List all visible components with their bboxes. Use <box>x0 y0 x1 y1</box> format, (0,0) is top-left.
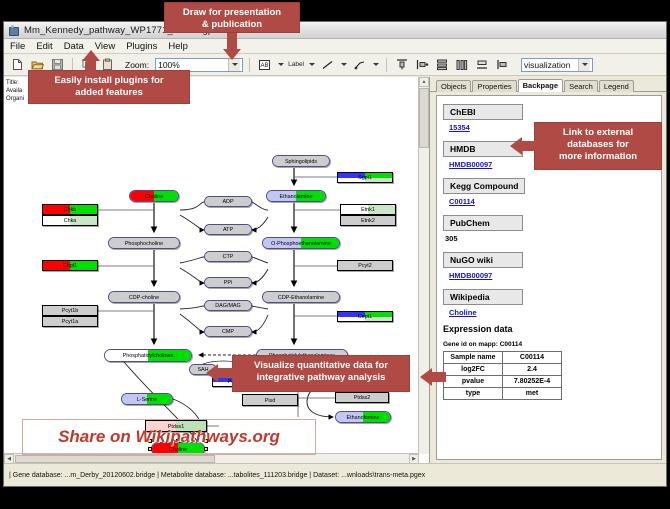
metabolite-node-cmp[interactable]: CMP <box>204 326 252 337</box>
node-half-right <box>70 306 97 315</box>
align-stack-icon[interactable] <box>473 56 490 73</box>
node-half-left <box>43 306 70 315</box>
metabolite-node-ophospho[interactable]: O-Phosphoethanolamine <box>262 237 340 249</box>
visualization-combo[interactable]: visualization <box>521 58 593 72</box>
callout-draw: Draw for presentation & publication <box>164 2 300 33</box>
menu-edit[interactable]: Edit <box>35 41 53 52</box>
line-tool-chevron-down-icon[interactable] <box>339 57 348 73</box>
callout-plugins-line1: Easily install plugins for <box>36 75 182 87</box>
node-half-right <box>301 292 339 302</box>
table-row: log2FC2.4 <box>444 364 562 376</box>
toolbar-separator <box>386 58 387 72</box>
node-half-left-lower <box>213 382 234 387</box>
screenshot-root: Mm_Kennedy_pathway_WP1771_45176.gpml Fil… <box>0 0 670 509</box>
pathway-title-label: Title: <box>6 79 24 87</box>
menu-bar: File Edit Data View Plugins Help <box>4 39 666 54</box>
toolbar-separator <box>249 58 250 72</box>
table-row: typemet <box>444 388 562 400</box>
expr-value: 7.80252E-4 <box>503 376 562 388</box>
node-half-right <box>362 393 388 402</box>
expr-key: Sample name <box>444 352 503 364</box>
metabolite-node-ethanolamine_bottom[interactable]: Ethanolamine <box>335 411 391 423</box>
node-half-left <box>205 252 228 261</box>
expr-key: pvalue <box>444 376 503 388</box>
callout-visualize-arrow-left-icon <box>206 364 218 382</box>
node-half-right <box>228 327 251 336</box>
metabolite-node-phosphatidylcholines[interactable]: Phosphatidylcholines <box>104 349 192 362</box>
node-half-right <box>147 394 172 404</box>
svg-text:AB: AB <box>261 63 269 69</box>
callout-link-databases: Link to external databases for more info… <box>534 122 662 170</box>
node-half-right <box>144 238 179 248</box>
metabolite-node-cdp_choline[interactable]: CDP-choline <box>108 291 180 303</box>
node-half-right <box>228 197 251 206</box>
callout-share: Share on Wikipathways.org <box>22 419 316 455</box>
node-half-left <box>205 278 228 287</box>
node-half-right-lower <box>365 178 392 183</box>
menu-file[interactable]: File <box>9 41 26 52</box>
node-half-left <box>43 205 70 214</box>
zoom-label: Zoom: <box>125 60 149 70</box>
hscroll-thumb[interactable] <box>15 455 215 463</box>
status-bar: | Gene database: ...m_Derby_20120602.bri… <box>4 463 666 486</box>
node-half-left <box>263 238 301 248</box>
callout-visualize-line1: Visualize quantitative data for <box>240 360 402 372</box>
node-half-right <box>368 205 395 214</box>
db-header-pubchem: PubChem <box>443 215 523 231</box>
pathway-canvas[interactable]: Title: Availa Organi <box>4 77 419 454</box>
node-half-left-lower <box>338 317 365 322</box>
node-half-left <box>336 393 362 402</box>
node-half-left <box>341 205 368 214</box>
shape-tool-chevron-down-icon[interactable] <box>276 57 285 73</box>
gene-node-ptdss2[interactable]: Ptdss2 <box>335 392 389 403</box>
metabolite-node-l_serine_left[interactable]: L-Serine <box>121 393 173 405</box>
gene-node-etnk1[interactable]: Etnk1 <box>340 204 396 215</box>
gene-node-chkb[interactable]: Chkb <box>42 204 98 215</box>
node-half-right <box>301 238 339 248</box>
node-half-left <box>267 191 296 201</box>
table-row: Sample nameC00114 <box>444 352 562 364</box>
node-half-right <box>368 216 395 225</box>
callout-link-line3: more information <box>542 151 654 163</box>
db-header-kegg-compound: Kegg Compound <box>443 178 525 194</box>
node-half-left <box>263 292 301 302</box>
scroll-up-arrow-icon[interactable]: ▲ <box>419 77 429 87</box>
gene-node-chka[interactable]: Chka <box>42 215 98 226</box>
visualization-value: visualization <box>524 60 578 70</box>
gene-node-pisd[interactable]: Pisd <box>242 394 298 406</box>
db-link-wikipedia[interactable]: Choline <box>449 308 655 317</box>
db-value-pubchem: 305 <box>445 234 655 243</box>
tab-objects[interactable]: Objects <box>436 80 471 92</box>
node-half-right <box>296 191 325 201</box>
gene-id-on-mapp: Gene id on mapp: C00114 <box>443 341 655 348</box>
interaction-tool-chevron-down-icon[interactable] <box>371 57 380 73</box>
align-left-icon[interactable] <box>413 56 430 73</box>
node-half-left <box>190 365 203 374</box>
node-half-right <box>148 350 191 361</box>
interaction-tool-icon[interactable] <box>351 56 368 73</box>
gene-node-cept1[interactable]: Cept1 <box>337 311 393 322</box>
metabolite-node-phosphocholine[interactable]: Phosphocholine <box>108 237 180 249</box>
metabolite-node-ppi[interactable]: PPi <box>204 277 252 288</box>
app-icon <box>8 25 19 36</box>
status-text: | Gene database: ...m_Derby_20120602.bri… <box>4 472 425 479</box>
callout-link-line1: Link to external <box>542 127 654 139</box>
gene-node-pcyt1b[interactable]: Pcyt1b <box>42 305 98 316</box>
pathway-availability-label: Availa <box>6 87 24 95</box>
node-half-left <box>336 412 363 422</box>
node-half-right <box>228 301 251 310</box>
callout-plugins-line2: added features <box>36 87 182 99</box>
menu-plugins[interactable]: Plugins <box>125 41 158 52</box>
canvas-vertical-scrollbar[interactable]: ▲ <box>418 77 429 454</box>
align-right-icon[interactable] <box>493 56 510 73</box>
callout-visualize-stem-right <box>432 372 446 382</box>
metabolite-node-sphingolipids[interactable]: Sphingolipids <box>272 155 330 167</box>
gene-node-sgpl1[interactable]: Sgpl1 <box>337 172 393 183</box>
node-half-right <box>228 252 251 261</box>
node-half-left <box>243 395 270 405</box>
expression-data-heading: Expression data <box>443 324 655 334</box>
callout-visualize: Visualize quantitative data for integrat… <box>232 355 410 392</box>
distribute-horizontal-icon[interactable] <box>453 56 470 73</box>
node-half-right <box>70 261 97 270</box>
node-half-left <box>273 156 301 166</box>
zoom-value: 100% <box>158 60 228 70</box>
metabolite-node-atp[interactable]: ATP <box>204 224 252 235</box>
title-bar: Mm_Kennedy_pathway_WP1771_45176.gpml <box>4 22 666 39</box>
label-tool-chevron-down-icon[interactable] <box>307 57 316 73</box>
db-link-kegg-compound[interactable]: C00114 <box>449 197 655 206</box>
node-half-right <box>144 292 179 302</box>
callout-plugins-arrow-up-icon <box>82 50 100 61</box>
table-row: pvalue7.80252E-4 <box>444 376 562 388</box>
node-half-left <box>122 394 147 404</box>
node-half-right <box>228 278 251 287</box>
align-top-icon[interactable] <box>393 56 410 73</box>
callout-link-line2: databases for <box>542 139 654 151</box>
tab-legend[interactable]: Legend <box>599 80 634 92</box>
expr-value: met <box>503 388 562 400</box>
node-half-right <box>70 317 97 326</box>
node-half-right <box>154 191 178 201</box>
gene-node-pcyt2[interactable]: Pcyt2 <box>337 260 393 271</box>
callout-visualize-line2: integrative pathway analysis <box>240 372 402 384</box>
pathway-canvas-container[interactable]: Title: Availa Organi <box>4 77 430 464</box>
callout-draw-arrow-down-icon <box>223 49 241 60</box>
node-half-right <box>363 412 390 422</box>
node-half-right <box>70 216 97 225</box>
node-half-right <box>228 225 251 234</box>
callout-link-arrow-left-icon <box>510 137 522 155</box>
metabolite-node-cdp_ethanolamine[interactable]: CDP-Ethanolamine <box>262 291 340 303</box>
gene-node-chpt1[interactable]: Chpt1 <box>42 260 98 271</box>
metabolite-node-choline_top[interactable]: Choline <box>129 190 179 202</box>
node-half-left <box>205 197 228 206</box>
line-tool-icon[interactable] <box>319 56 336 73</box>
node-half-left <box>43 216 70 225</box>
chevron-down-icon[interactable] <box>578 59 590 71</box>
node-half-left <box>109 292 144 302</box>
tab-search[interactable]: Search <box>564 80 598 92</box>
db-header-wikipedia: Wikipedia <box>443 289 523 305</box>
node-half-left <box>43 317 70 326</box>
node-half-left <box>43 261 70 270</box>
callout-expression-arrow-left-icon <box>420 368 432 386</box>
callout-visualize-stem <box>218 368 234 378</box>
vscroll-thumb[interactable] <box>419 88 429 148</box>
callout-draw-line1: Draw for presentation <box>172 7 292 19</box>
expr-key: type <box>444 388 503 400</box>
share-text: Share on Wikipathways.org <box>58 427 280 447</box>
expr-value: 2.4 <box>503 364 562 376</box>
tab-properties[interactable]: Properties <box>472 80 516 92</box>
db-header-chebi: ChEBI <box>443 104 523 120</box>
callout-link-stem <box>522 141 536 151</box>
node-half-left <box>341 216 368 225</box>
node-half-right <box>270 395 297 405</box>
node-half-right <box>70 205 97 214</box>
node-half-left <box>130 191 154 201</box>
node-half-right <box>301 156 329 166</box>
node-half-left <box>205 225 228 234</box>
pathway-info-labels: Title: Availa Organi <box>6 79 24 103</box>
callout-draw-line2: & publication <box>172 19 292 31</box>
metabolite-node-ethanolamine_top[interactable]: Ethanolamine <box>266 190 326 202</box>
menu-help[interactable]: Help <box>167 41 189 52</box>
shape-tool-icon[interactable]: AB <box>256 56 273 73</box>
expression-data-table: Sample nameC00114log2FC2.4pvalue7.80252E… <box>443 351 562 400</box>
node-half-left <box>205 327 228 336</box>
expr-key: log2FC <box>444 364 503 376</box>
chevron-down-icon[interactable] <box>228 59 240 71</box>
expr-value: C00114 <box>503 352 562 364</box>
metabolite-node-dagmag[interactable]: DAG/MAG <box>204 300 252 311</box>
distribute-vertical-icon[interactable] <box>433 56 450 73</box>
node-half-left <box>338 261 365 270</box>
tab-backpage[interactable]: Backpage <box>518 79 563 92</box>
label-tool-label: Label <box>288 61 304 68</box>
new-file-icon[interactable] <box>9 56 26 73</box>
pathway-organism-label: Organi <box>6 95 24 103</box>
node-half-right-lower <box>365 317 392 322</box>
side-panel-tabs: ObjectsPropertiesBackpageSearchLegend <box>430 77 666 92</box>
node-half-left-lower <box>338 178 365 183</box>
metabolite-node-ctp[interactable]: CTP <box>204 251 252 262</box>
callout-plugins: Easily install plugins for added feature… <box>28 70 190 104</box>
node-half-left <box>109 238 144 248</box>
gene-node-pcyt1a[interactable]: Pcyt1a <box>42 316 98 327</box>
db-link-nugo-wiki[interactable]: HMDB00097 <box>449 271 655 280</box>
db-header-nugo-wiki: NuGO wiki <box>443 252 523 268</box>
metabolite-node-adp[interactable]: ADP <box>204 196 252 207</box>
node-half-left <box>105 350 148 361</box>
node-half-left <box>205 301 228 310</box>
node-half-right <box>365 261 392 270</box>
gene-node-etnk2[interactable]: Etnk2 <box>340 215 396 226</box>
